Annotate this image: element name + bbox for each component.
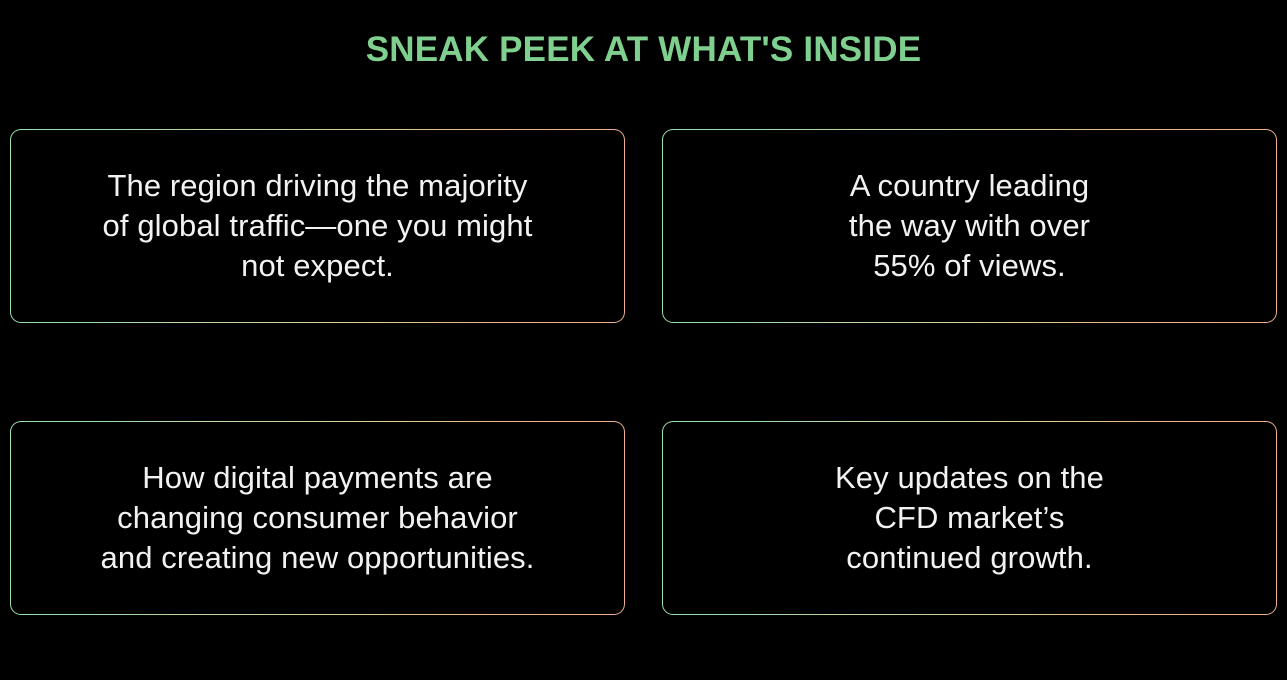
card-text: How digital payments are changing consum… — [101, 458, 535, 578]
highlight-card-digital-payments[interactable]: How digital payments are changing consum… — [10, 421, 625, 615]
highlight-card-grid: The region driving the majority of globa… — [10, 129, 1277, 615]
highlight-card-cfd-market[interactable]: Key updates on the CFD market’s continue… — [662, 421, 1277, 615]
card-inner-panel: How digital payments are changing consum… — [11, 422, 623, 613]
page-title: SNEAK PEEK AT WHAT'S INSIDE — [0, 27, 1287, 73]
highlight-card-region-traffic[interactable]: The region driving the majority of globa… — [10, 129, 625, 323]
card-text: Key updates on the CFD market’s continue… — [835, 458, 1104, 578]
highlight-card-country-views[interactable]: A country leading the way with over 55% … — [662, 129, 1277, 323]
card-inner-panel: Key updates on the CFD market’s continue… — [663, 422, 1275, 613]
card-text: A country leading the way with over 55% … — [849, 166, 1090, 286]
card-inner-panel: The region driving the majority of globa… — [11, 130, 623, 321]
sneak-peek-slide: SNEAK PEEK AT WHAT'S INSIDE The region d… — [0, 0, 1287, 680]
card-text: The region driving the majority of globa… — [103, 166, 533, 286]
card-inner-panel: A country leading the way with over 55% … — [663, 130, 1275, 321]
